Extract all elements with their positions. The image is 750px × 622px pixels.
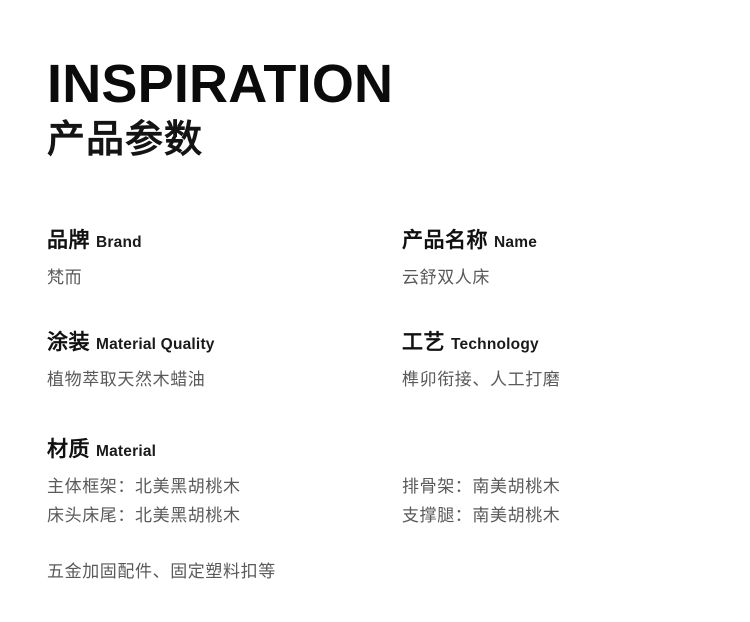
spec-label-cn: 涂装 (47, 331, 90, 354)
spec-item-coating: 涂装Material Quality 植物萃取天然木蜡油 (47, 330, 402, 394)
spec-value: 云舒双人床 (402, 263, 707, 292)
spec-value: 植物萃取天然木蜡油 (47, 365, 402, 394)
spec-item-technology: 工艺Technology 榫卯衔接、人工打磨 (402, 330, 707, 394)
spec-sheet-page: INSPIRATION 产品参数 品牌Brand 梵而 产品名称Name 云舒双… (0, 0, 750, 622)
spec-label: 工艺Technology (402, 330, 707, 358)
spec-label-cn: 工艺 (402, 331, 445, 354)
spec-label-cn: 产品名称 (402, 229, 488, 252)
page-header: INSPIRATION 产品参数 (47, 58, 393, 161)
material-line-group: 主体框架：北美黑胡桃木 床头床尾：北美黑胡桃木 排骨架：南美胡桃木 支撑腿：南美… (47, 472, 707, 530)
page-title-cn: 产品参数 (47, 119, 393, 161)
material-line: 排骨架：南美胡桃木 (402, 472, 707, 501)
spec-item-material: 材质Material 主体框架：北美黑胡桃木 床头床尾：北美黑胡桃木 排骨架：南… (47, 437, 707, 586)
material-note: 五金加固配件、固定塑料扣等 (47, 557, 707, 586)
material-line: 支撑腿：南美胡桃木 (402, 501, 707, 530)
spec-label: 产品名称Name (402, 228, 707, 256)
material-column-right: 排骨架：南美胡桃木 支撑腿：南美胡桃木 (402, 472, 707, 530)
spec-label: 涂装Material Quality (47, 330, 402, 358)
material-line: 床头床尾：北美黑胡桃木 (47, 501, 402, 530)
material-line: 主体框架：北美黑胡桃木 (47, 472, 402, 501)
spec-value: 榫卯衔接、人工打磨 (402, 365, 707, 394)
material-column-left: 主体框架：北美黑胡桃木 床头床尾：北美黑胡桃木 (47, 472, 402, 530)
spec-item-product-name: 产品名称Name 云舒双人床 (402, 228, 707, 292)
spec-label-en: Material (96, 443, 156, 460)
spec-label-cn: 材质 (47, 438, 90, 461)
spec-label-en: Brand (96, 234, 142, 251)
spec-value: 梵而 (47, 263, 402, 292)
spec-label: 材质Material (47, 437, 707, 465)
spec-label: 品牌Brand (47, 228, 402, 256)
spec-label-en: Technology (451, 336, 539, 353)
spec-row: 涂装Material Quality 植物萃取天然木蜡油 工艺Technolog… (47, 330, 707, 394)
spec-label-en: Name (494, 234, 537, 251)
spec-item-brand: 品牌Brand 梵而 (47, 228, 402, 292)
spec-label-cn: 品牌 (47, 229, 90, 252)
page-title-en: INSPIRATION (47, 58, 393, 110)
spec-label-en: Material Quality (96, 336, 215, 353)
spec-grid: 品牌Brand 梵而 产品名称Name 云舒双人床 涂装Material Qua… (47, 228, 707, 394)
spec-row: 品牌Brand 梵而 产品名称Name 云舒双人床 (47, 228, 707, 292)
